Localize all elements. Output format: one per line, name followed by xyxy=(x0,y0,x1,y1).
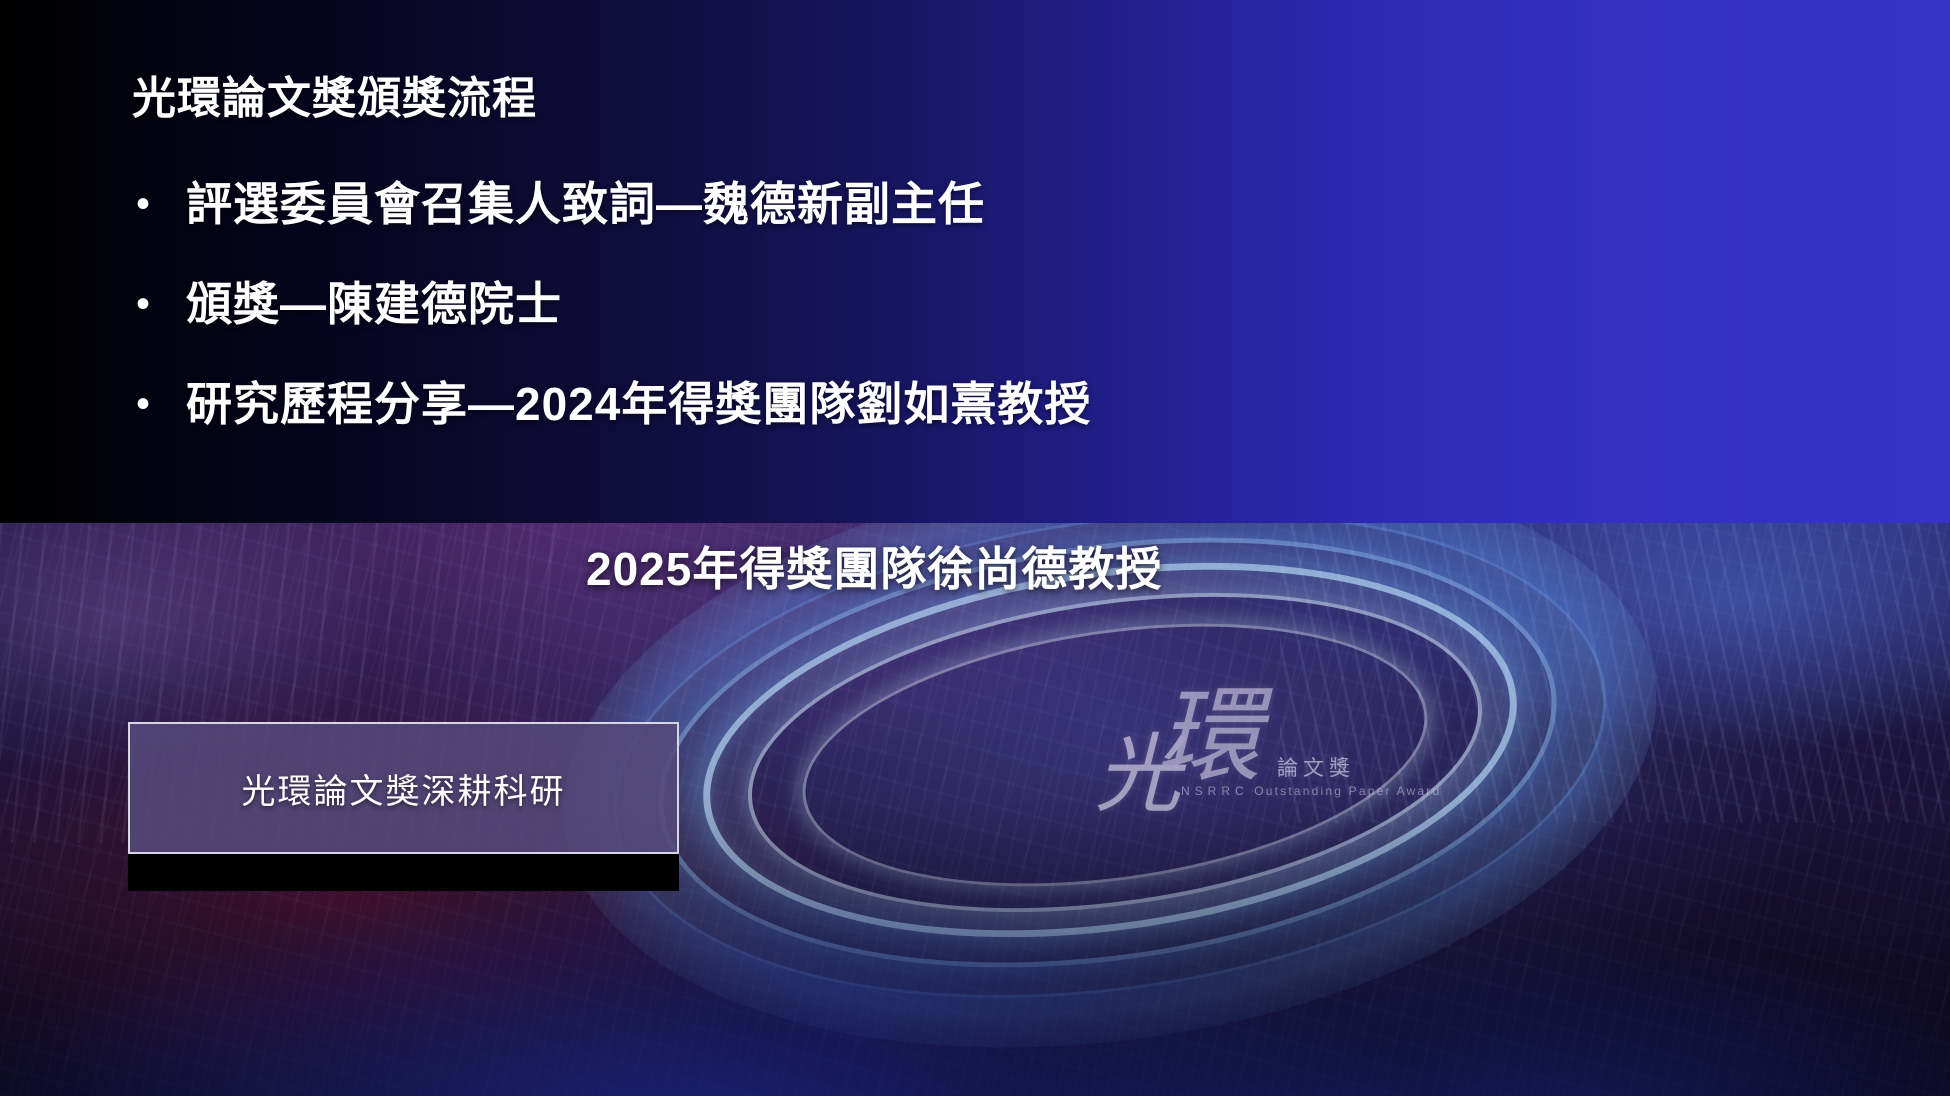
list-item: • 研究歷程分享—2024年得獎團隊劉如熹教授 xyxy=(130,375,1830,433)
bullet-point-icon: • xyxy=(130,275,186,333)
caption-box-shadow-bar xyxy=(128,854,679,891)
agenda-continuation-line: 2025年得獎團隊徐尚德教授 xyxy=(586,540,1162,598)
list-item-label: 頒獎—陳建德院士 xyxy=(186,275,562,333)
caption-box: 光環論文獎深耕科研 xyxy=(128,722,679,854)
list-item: • 評選委員會召集人致詞—魏德新副主任 xyxy=(130,175,1830,233)
slide-content: 光環論文獎頒獎流程 • 評選委員會召集人致詞—魏德新副主任 • 頒獎—陳建德院士… xyxy=(0,0,1950,1096)
list-item-label: 研究歷程分享—2024年得獎團隊劉如熹教授 xyxy=(186,375,1091,433)
bullet-point-icon: • xyxy=(130,175,186,233)
presentation-slide: 光 環 論文獎 NSRRC Outstanding Paper Award 光環… xyxy=(0,0,1950,1096)
list-item: • 頒獎—陳建德院士 xyxy=(130,275,1830,333)
page-title: 光環論文獎頒獎流程 xyxy=(132,62,537,126)
agenda-list: • 評選委員會召集人致詞—魏德新副主任 • 頒獎—陳建德院士 • 研究歷程分享—… xyxy=(130,175,1830,475)
bullet-point-icon: • xyxy=(130,375,186,433)
list-item-label: 評選委員會召集人致詞—魏德新副主任 xyxy=(186,175,985,233)
caption-box-label: 光環論文獎深耕科研 xyxy=(242,764,566,813)
